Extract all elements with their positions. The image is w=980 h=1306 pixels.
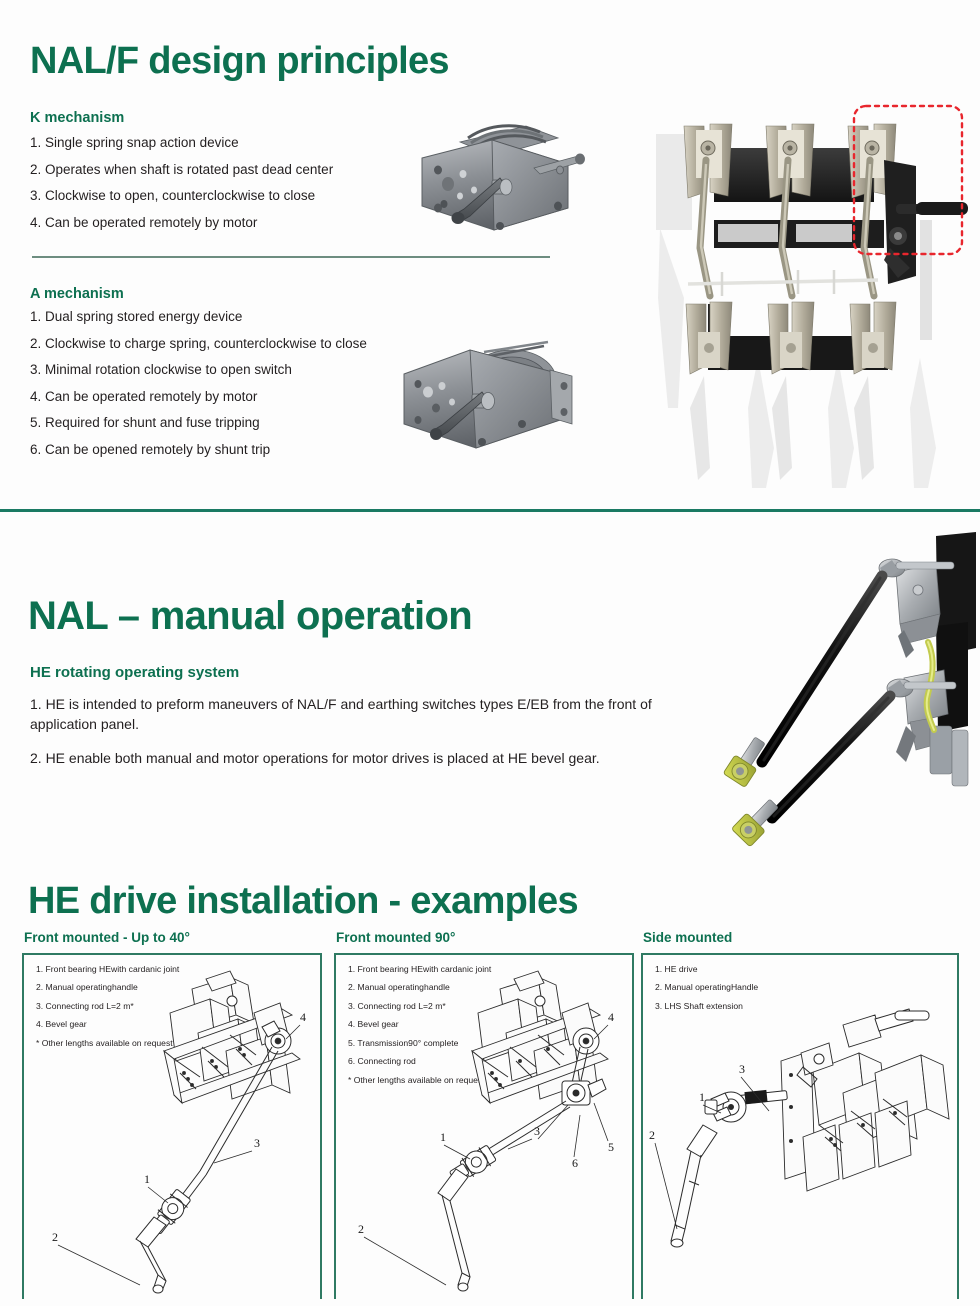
callout-3: 3 <box>739 1062 745 1076</box>
a-mechanism-photo <box>394 328 584 454</box>
panel-title: Front mounted - Up to 40° <box>24 930 322 945</box>
page-title: NAL/F design principles <box>30 40 449 83</box>
he-system-heading: HE rotating operating system <box>30 664 239 681</box>
divider-gray <box>32 256 550 258</box>
section-nalf-design-principles: NAL/F design principles K mechanism 1. S… <box>0 0 980 512</box>
callout-5: 5 <box>608 1140 614 1154</box>
callout-1: 1 <box>144 1172 150 1186</box>
list-item: 3. Clockwise to open, counterclockwise t… <box>30 189 333 203</box>
page-title: HE drive installation - examples <box>28 880 578 923</box>
a-mechanism-heading: A mechanism <box>30 286 124 302</box>
callout-1: 1 <box>699 1090 705 1104</box>
side-mounted-drawing: 3 1 2 <box>643 1015 959 1299</box>
panel-body: 1. Front bearing HEwith cardanic joint 2… <box>334 953 634 1299</box>
section-nal-manual-operation: NAL – manual operation HE rotating opera… <box>0 512 980 857</box>
list-item: 5. Required for shunt and fuse tripping <box>30 416 367 430</box>
front-mounted-40-drawing: 4 3 1 2 <box>24 955 322 1299</box>
three-phase-switchgear-photo <box>648 108 978 488</box>
he-drive-cad-photo <box>700 530 980 860</box>
list-item: 1. Single spring snap action device <box>30 136 333 150</box>
list-item: 2. Manual operatingHandle <box>655 983 758 992</box>
callout-2: 2 <box>358 1222 364 1236</box>
panel-title: Side mounted <box>643 930 959 945</box>
k-mechanism-photo <box>408 112 590 238</box>
list-item: 2. Operates when shaft is rotated past d… <box>30 163 333 177</box>
list-item: 4. Can be operated remotely by motor <box>30 216 333 230</box>
he-system-description: 1. HE is intended to preform maneuvers o… <box>30 694 690 781</box>
page-title: NAL – manual operation <box>28 594 472 639</box>
list-item: 2. Clockwise to charge spring, countercl… <box>30 337 367 351</box>
list-item: 3. Minimal rotation clockwise to open sw… <box>30 363 367 377</box>
panel-body: 1. Front bearing HEwith cardanic joint 2… <box>22 953 322 1299</box>
panel-body: 1. HE drive 2. Manual operatingHandle 3.… <box>641 953 959 1299</box>
front-mounted-90-drawing: 4 3 5 6 1 2 <box>336 955 634 1299</box>
page-root: NAL/F design principles K mechanism 1. S… <box>0 0 980 1306</box>
panel-front-mounted-90: Front mounted 90° 1. Front bearing HEwit… <box>334 930 634 1306</box>
panel-list: 1. HE drive 2. Manual operatingHandle 3.… <box>655 965 758 1020</box>
panel-front-mounted-40: Front mounted - Up to 40° 1. Front beari… <box>22 930 322 1306</box>
panel-side-mounted: Side mounted 1. HE drive 2. Manual opera… <box>641 930 959 1306</box>
callout-6: 6 <box>572 1156 578 1170</box>
a-mechanism-list: 1. Dual spring stored energy device 2. C… <box>30 310 367 469</box>
callout-4: 4 <box>300 1010 306 1024</box>
callout-2: 2 <box>52 1230 58 1244</box>
section-he-drive-installation: HE drive installation - examples Front m… <box>0 860 980 1306</box>
panel-title: Front mounted 90° <box>336 930 634 945</box>
paragraph: 1. HE is intended to preform maneuvers o… <box>30 694 690 735</box>
list-item: 1. HE drive <box>655 965 758 974</box>
callout-2: 2 <box>649 1128 655 1142</box>
k-mechanism-heading: K mechanism <box>30 110 124 126</box>
installation-panels: Front mounted - Up to 40° 1. Front beari… <box>0 930 980 1306</box>
paragraph: 2. HE enable both manual and motor opera… <box>30 748 690 768</box>
callout-3: 3 <box>254 1136 260 1150</box>
callout-3: 3 <box>534 1124 540 1138</box>
callout-4: 4 <box>608 1010 614 1024</box>
list-item: 4. Can be operated remotely by motor <box>30 390 367 404</box>
k-mechanism-list: 1. Single spring snap action device 2. O… <box>30 136 333 242</box>
list-item: 1. Dual spring stored energy device <box>30 310 367 324</box>
callout-1: 1 <box>440 1130 446 1144</box>
list-item: 3. LHS Shaft extension <box>655 1002 758 1011</box>
list-item: 6. Can be opened remotely by shunt trip <box>30 443 367 457</box>
